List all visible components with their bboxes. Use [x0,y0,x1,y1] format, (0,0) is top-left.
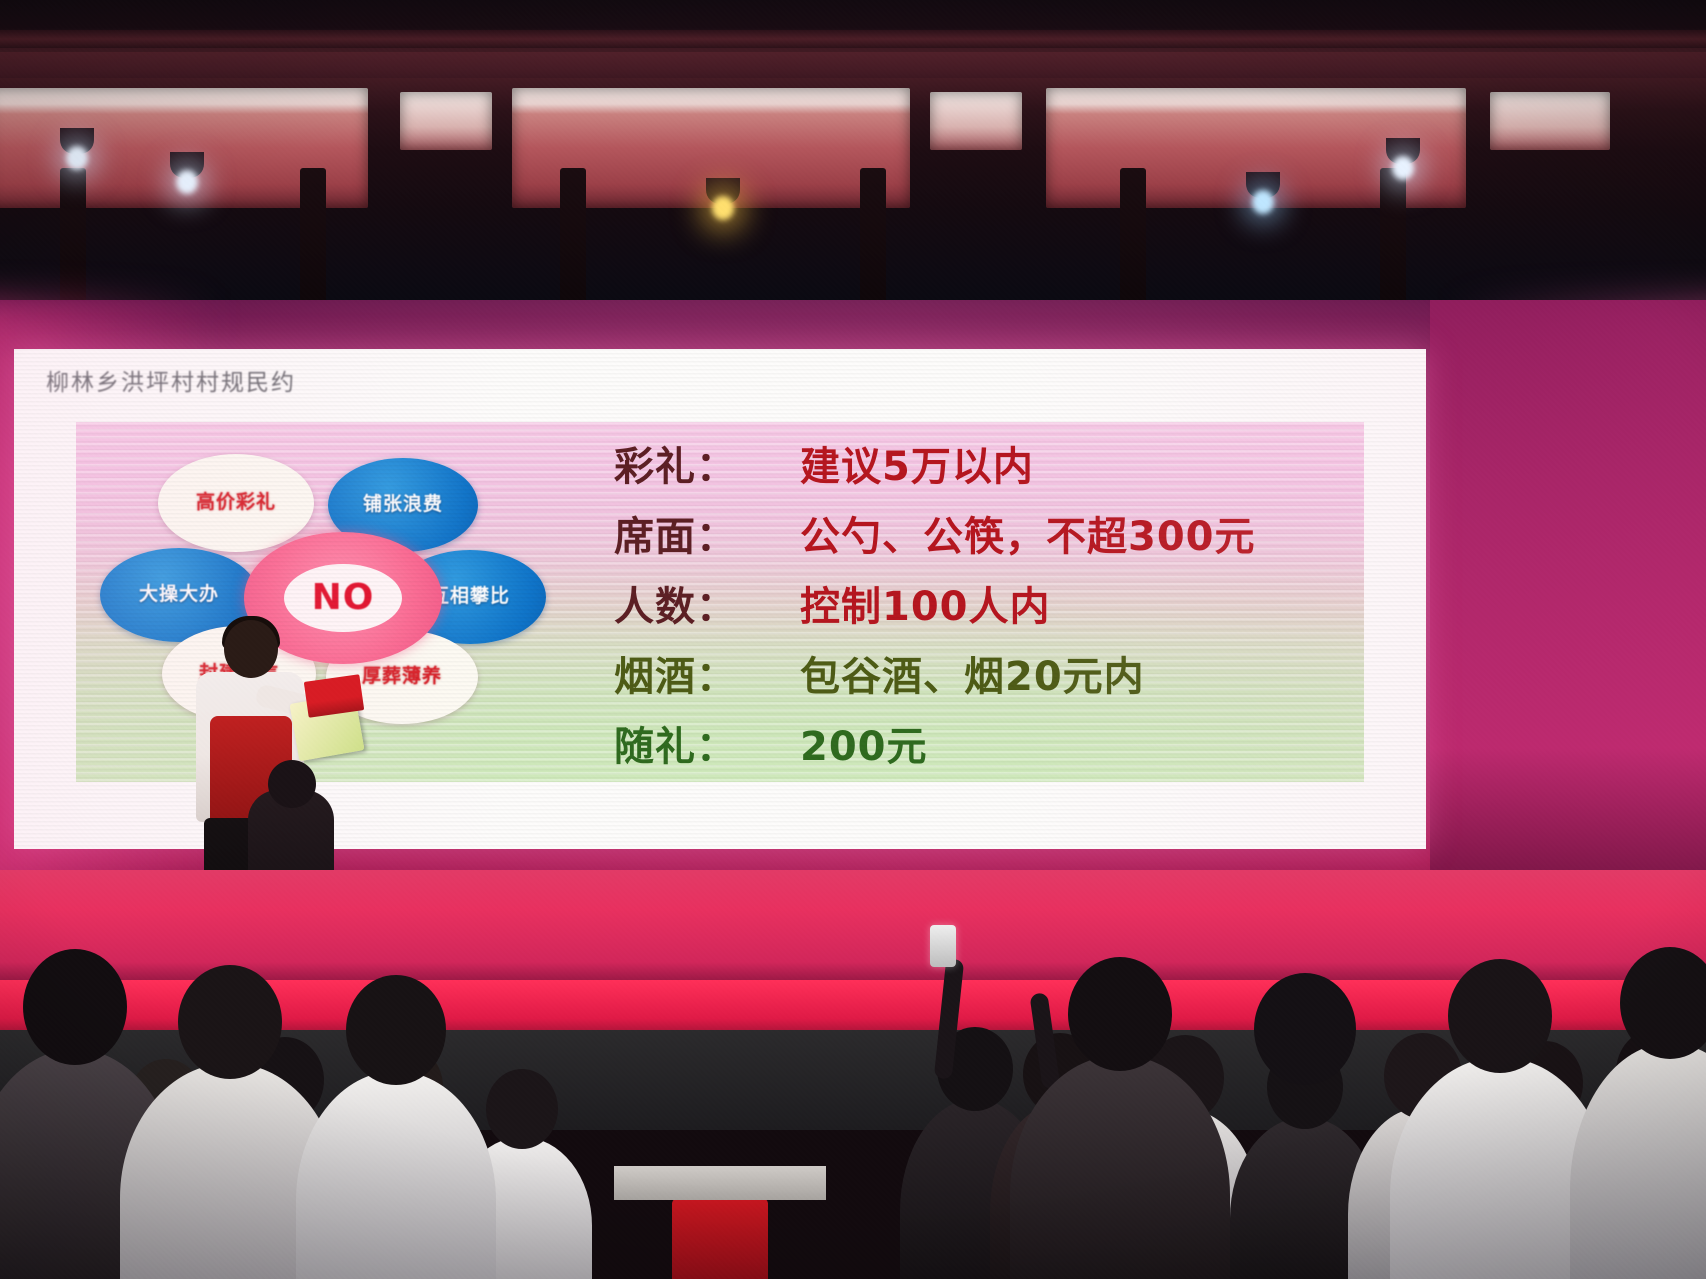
stage-light-icon [706,178,740,204]
red-podium [672,1198,768,1279]
audience-head [178,965,282,1079]
audience-silhouettes [0,900,1706,1279]
bubble-label: 厚葬薄养 [362,667,442,686]
stage-light-icon [1386,138,1420,164]
center-no-label: NO [312,580,375,617]
village-rules-list: 彩礼： 建议5万以内 席面： 公勺、公筷，不超300元 人数： 控制100人内 … [614,434,1354,782]
audience-head [486,1069,558,1149]
rule-label: 人数： [614,574,800,632]
audience-member-front [1010,959,1230,1279]
truss-band-upper [0,30,1706,48]
bubble-label: 高价彩礼 [196,493,276,512]
slide-title: 柳林乡洪坪村村规民约 [46,363,296,397]
rule-value: 200元 [800,714,928,772]
audience-head [1068,957,1172,1071]
ceiling-panels [0,88,1706,218]
rule-label: 席面： [614,504,800,562]
auditorium-scene: 柳林乡洪坪村村规民约 高价彩礼 铺张浪费 大操大办 互相攀比 封建迷信 [0,0,1706,1279]
rule-value: 包谷酒、烟20元内 [800,644,1145,702]
truss-beam [300,168,326,310]
bubble-high-bride-price: 高价彩礼 [158,454,314,552]
audience-member-front [296,979,496,1279]
audience-head [1448,959,1552,1073]
ceiling-panel [400,92,492,150]
bubble-label: 铺张浪费 [363,495,443,514]
stage-light-icon [60,128,94,154]
rule-label: 随礼： [614,714,800,772]
bubble-label: 大操大办 [139,585,219,604]
audience-head [346,975,446,1085]
truss-beam [1380,168,1406,310]
rule-label: 彩礼： [614,434,800,492]
rule-value: 控制100人内 [800,574,1051,632]
presenter-head [224,620,278,678]
truss-beam [860,168,886,310]
rule-row-headcount: 人数： 控制100人内 [614,574,1354,636]
stage-light-icon [170,152,204,178]
audience-member-front [1570,939,1706,1279]
rule-value: 建议5万以内 [800,434,1034,492]
audience-shoulders [1010,1055,1230,1279]
smartphone-icon [930,925,956,967]
rule-row-gift-money: 随礼： 200元 [614,714,1354,776]
presenter-red-flag [304,674,364,717]
ceiling-panel [930,92,1022,150]
rule-row-tobacco-alcohol: 烟酒： 包谷酒、烟20元内 [614,644,1354,706]
truss-beam [60,168,86,310]
audience-shoulders [296,1071,496,1279]
audience-head [23,949,127,1065]
audience-head [1620,947,1706,1059]
ceiling-truss [0,0,1706,310]
audience-head [1254,973,1356,1085]
ceiling-panel [1490,92,1610,150]
audience-shoulders [1200,1071,1410,1279]
truss-beam [560,168,586,310]
truss-beam [1120,168,1146,310]
stage-light-icon [1246,172,1280,198]
rule-row-banquet: 席面： 公勺、公筷，不超300元 [614,504,1354,566]
audience-shoulders [1570,1043,1706,1279]
audience-member-front [1200,979,1410,1279]
rule-value: 公勺、公筷，不超300元 [800,504,1256,562]
wall-right-section [1430,300,1706,940]
rule-label: 烟酒： [614,644,800,702]
rule-row-bride-price: 彩礼： 建议5万以内 [614,434,1354,496]
truss-band-lower [0,52,1706,78]
